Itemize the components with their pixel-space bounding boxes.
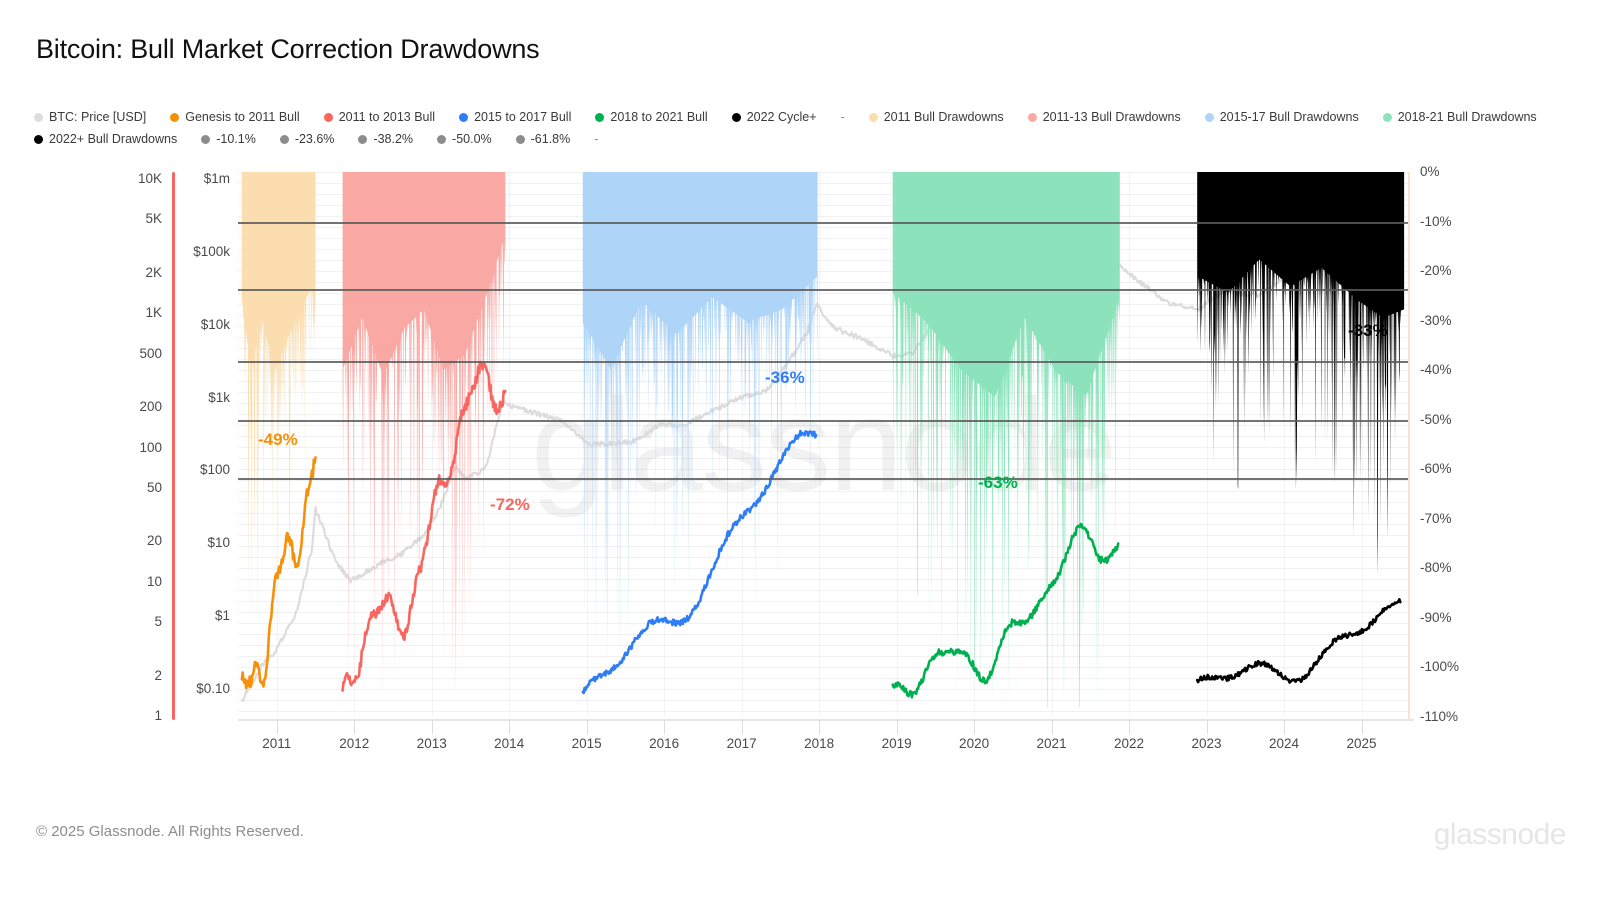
left-inner-axis-tick-label: $1m bbox=[150, 172, 230, 186]
fibonacci-level-line bbox=[238, 289, 1408, 291]
right-axis-tick-label: -100% bbox=[1420, 660, 1459, 674]
x-axis-tick-mark bbox=[1207, 720, 1208, 734]
series-2022-cycle-plus bbox=[1197, 599, 1400, 682]
legend-item-label: -23.6% bbox=[295, 132, 335, 146]
chart-plot-area[interactable]: glassnode -49%-72%-36%-63%-33% bbox=[238, 172, 1408, 717]
x-axis-tick-label: 2019 bbox=[882, 736, 912, 751]
x-axis-tick-label: 2012 bbox=[339, 736, 369, 751]
legend-item[interactable]: 2011 to 2013 Bull bbox=[324, 110, 435, 124]
left-outer-axis-tick-label: 1 bbox=[112, 709, 162, 723]
right-axis-tick-label: -40% bbox=[1420, 363, 1452, 377]
legend-item[interactable]: 2018-21 Bull Drawdowns bbox=[1383, 110, 1537, 124]
legend-item[interactable]: 2011 Bull Drawdowns bbox=[869, 110, 1004, 124]
legend-item-label: 2022+ Bull Drawdowns bbox=[49, 132, 177, 146]
legend-color-dot-icon bbox=[34, 113, 43, 122]
legend-item-label: -50.0% bbox=[452, 132, 492, 146]
legend-item[interactable]: -50.0% bbox=[437, 132, 492, 146]
x-axis-tick-mark bbox=[664, 720, 665, 734]
x-axis-tick-label: 2013 bbox=[417, 736, 447, 751]
left-outer-axis-tick-label: 2K bbox=[112, 266, 162, 280]
series-2018-to-2021-bull bbox=[893, 524, 1118, 697]
legend-separator: - bbox=[594, 132, 598, 146]
right-axis-tick-label: 0% bbox=[1420, 165, 1440, 179]
x-axis-tick-mark bbox=[432, 720, 433, 734]
right-axis-line bbox=[1408, 172, 1410, 720]
legend-color-dot-icon bbox=[324, 113, 333, 122]
fibonacci-level-line bbox=[238, 478, 1408, 480]
legend-item[interactable]: 2022 Cycle+ bbox=[732, 110, 817, 124]
drawdown-annotation-label: -63% bbox=[978, 473, 1018, 493]
right-axis-tick-label: -70% bbox=[1420, 512, 1452, 526]
chart-legend: BTC: Price [USD]Genesis to 2011 Bull2011… bbox=[34, 106, 1564, 150]
x-axis-tick-label: 2022 bbox=[1114, 736, 1144, 751]
x-axis-tick-label: 2024 bbox=[1269, 736, 1299, 751]
legend-row-primary: BTC: Price [USD]Genesis to 2011 Bull2011… bbox=[34, 106, 1564, 128]
legend-item[interactable]: BTC: Price [USD] bbox=[34, 110, 146, 124]
legend-item[interactable]: -61.8% bbox=[516, 132, 571, 146]
legend-item-label: 2018 to 2021 Bull bbox=[610, 110, 707, 124]
x-axis-tick-mark bbox=[974, 720, 975, 734]
left-inner-axis-tick-label: $1k bbox=[150, 391, 230, 405]
series-genesis-to-2011-bull bbox=[242, 457, 316, 688]
fibonacci-level-line bbox=[238, 222, 1408, 224]
legend-color-dot-icon bbox=[1205, 113, 1214, 122]
legend-item[interactable]: -23.6% bbox=[280, 132, 335, 146]
drawdown-annotation-label: -72% bbox=[490, 495, 530, 515]
fibonacci-level-line bbox=[238, 361, 1408, 363]
x-axis-tick-label: 2011 bbox=[262, 736, 291, 751]
legend-item[interactable]: 2022+ Bull Drawdowns bbox=[34, 132, 177, 146]
legend-color-dot-icon bbox=[1383, 113, 1392, 122]
x-axis-tick-mark bbox=[1284, 720, 1285, 734]
left-outer-axis-tick-label: 500 bbox=[112, 347, 162, 361]
page-title: Bitcoin: Bull Market Correction Drawdown… bbox=[36, 34, 539, 65]
x-axis-tick-mark bbox=[819, 720, 820, 734]
left-outer-axis-tick-label: 5K bbox=[112, 212, 162, 226]
x-axis-line bbox=[238, 719, 1414, 721]
legend-color-dot-icon bbox=[459, 113, 468, 122]
x-axis-tick-label: 2017 bbox=[727, 736, 757, 751]
fibonacci-level-line bbox=[238, 420, 1408, 422]
legend-color-dot-icon bbox=[170, 113, 179, 122]
legend-item[interactable]: Genesis to 2011 Bull bbox=[170, 110, 299, 124]
left-inner-axis-tick-label: $100 bbox=[150, 463, 230, 477]
left-inner-axis-tick-label: $10k bbox=[150, 318, 230, 332]
area-2015-17-bull-drawdowns bbox=[583, 172, 818, 686]
x-axis-tick-mark bbox=[509, 720, 510, 734]
legend-color-dot-icon bbox=[34, 135, 43, 144]
right-axis-tick-label: -60% bbox=[1420, 462, 1452, 476]
x-axis-tick-label: 2014 bbox=[494, 736, 524, 751]
x-axis-tick-label: 2023 bbox=[1192, 736, 1222, 751]
right-axis-tick-label: -110% bbox=[1420, 710, 1458, 724]
legend-item[interactable]: 2011-13 Bull Drawdowns bbox=[1028, 110, 1181, 124]
left-inner-axis-tick-label: $0.10 bbox=[150, 682, 230, 696]
drawdown-annotation-label: -36% bbox=[765, 368, 805, 388]
legend-color-dot-icon bbox=[595, 113, 604, 122]
right-axis-tick-label: -80% bbox=[1420, 561, 1452, 575]
drawdown-annotation-label: -49% bbox=[258, 430, 298, 450]
x-axis-tick-label: 2015 bbox=[572, 736, 602, 751]
legend-item-label: Genesis to 2011 Bull bbox=[185, 110, 299, 124]
right-axis-tick-label: -90% bbox=[1420, 611, 1452, 625]
legend-item-label: 2011 Bull Drawdowns bbox=[884, 110, 1004, 124]
x-axis-tick-mark bbox=[1362, 720, 1363, 734]
area-2018-21-bull-drawdowns bbox=[893, 172, 1120, 707]
legend-item-label: 2015 to 2017 Bull bbox=[474, 110, 571, 124]
legend-item-label: 2011-13 Bull Drawdowns bbox=[1043, 110, 1181, 124]
left-inner-axis-tick-label: $1 bbox=[150, 609, 230, 623]
legend-color-dot-icon bbox=[201, 135, 210, 144]
legend-item[interactable]: -10.1% bbox=[201, 132, 256, 146]
left-outer-axis-tick-label: 50 bbox=[112, 481, 162, 495]
legend-color-dot-icon bbox=[869, 113, 878, 122]
legend-item-label: -61.8% bbox=[531, 132, 571, 146]
legend-item-label: BTC: Price [USD] bbox=[49, 110, 146, 124]
legend-item-label: -38.2% bbox=[373, 132, 413, 146]
x-axis-tick-label: 2020 bbox=[959, 736, 989, 751]
x-axis-tick-label: 2018 bbox=[804, 736, 834, 751]
series-2011-to-2013-bull bbox=[343, 362, 506, 690]
legend-item-label: 2011 to 2013 Bull bbox=[339, 110, 435, 124]
legend-item-label: 2018-21 Bull Drawdowns bbox=[1398, 110, 1537, 124]
x-axis-tick-mark bbox=[1052, 720, 1053, 734]
x-axis-tick-mark bbox=[277, 720, 278, 734]
legend-item[interactable]: 2015 to 2017 Bull bbox=[459, 110, 571, 124]
copyright-text: © 2025 Glassnode. All Rights Reserved. bbox=[36, 823, 304, 840]
x-axis-tick-mark bbox=[354, 720, 355, 734]
legend-color-dot-icon bbox=[280, 135, 289, 144]
legend-item[interactable]: 2018 to 2021 Bull bbox=[595, 110, 707, 124]
x-axis-tick-mark bbox=[1129, 720, 1130, 734]
legend-color-dot-icon bbox=[732, 113, 741, 122]
area-2022-plus-bull-drawdowns bbox=[1197, 172, 1404, 576]
left-outer-axis-tick-label: 2 bbox=[112, 669, 162, 683]
legend-color-dot-icon bbox=[1028, 113, 1037, 122]
left-inner-axis-tick-label: $10 bbox=[150, 536, 230, 550]
left-outer-axis-tick-label: 10 bbox=[112, 575, 162, 589]
x-axis-tick-label: 2021 bbox=[1037, 736, 1067, 751]
legend-item-label: 2015-17 Bull Drawdowns bbox=[1220, 110, 1359, 124]
legend-color-dot-icon bbox=[516, 135, 525, 144]
legend-item-label: -10.1% bbox=[216, 132, 256, 146]
x-axis-tick-mark bbox=[587, 720, 588, 734]
drawdown-annotation-label: -33% bbox=[1348, 321, 1388, 341]
x-axis-tick-label: 2016 bbox=[649, 736, 679, 751]
right-axis-tick-label: -50% bbox=[1420, 413, 1452, 427]
legend-item[interactable]: -38.2% bbox=[358, 132, 413, 146]
legend-color-dot-icon bbox=[358, 135, 367, 144]
right-axis-tick-label: -30% bbox=[1420, 314, 1452, 328]
legend-separator: - bbox=[841, 110, 845, 124]
legend-item[interactable]: 2015-17 Bull Drawdowns bbox=[1205, 110, 1359, 124]
legend-color-dot-icon bbox=[437, 135, 446, 144]
x-axis-tick-mark bbox=[897, 720, 898, 734]
right-axis-tick-label: -10% bbox=[1420, 215, 1452, 229]
x-axis-tick-mark bbox=[742, 720, 743, 734]
left-outer-axis-tick-label: 100 bbox=[112, 441, 162, 455]
chart-series-canvas bbox=[238, 172, 1408, 717]
right-axis-tick-label: -20% bbox=[1420, 264, 1452, 278]
glassnode-logo: glassnode bbox=[1434, 818, 1566, 852]
x-axis-tick-label: 2025 bbox=[1346, 736, 1376, 751]
left-inner-axis-tick-label: $100k bbox=[150, 245, 230, 259]
legend-item-label: 2022 Cycle+ bbox=[747, 110, 817, 124]
legend-row-secondary: 2022+ Bull Drawdowns-10.1%-23.6%-38.2%-5… bbox=[34, 128, 1564, 150]
